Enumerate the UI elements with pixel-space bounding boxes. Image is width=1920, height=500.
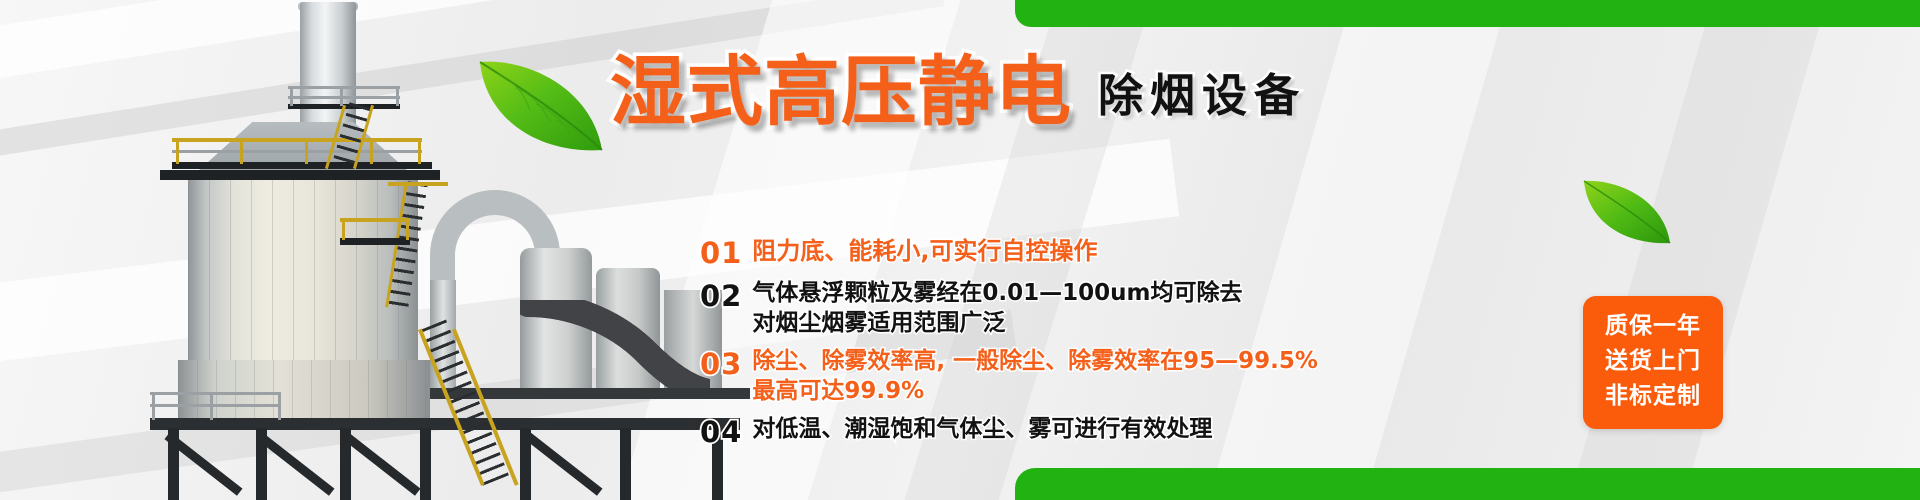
feature-item: 04 对低温、潮湿饱和气体尘、雾可进行有效处理: [700, 415, 1580, 449]
headline: 湿式高压静电 除烟设备: [610, 52, 1306, 132]
promo-badge[interactable]: 质保一年 送货上门 非标定制: [1583, 296, 1723, 429]
page-subtitle: 除烟设备: [1098, 59, 1306, 124]
feature-number: 01: [700, 236, 742, 270]
feature-item: 01 阻力底、能耗小,可实行自控操作: [700, 236, 1580, 270]
page-title: 湿式高压静电: [610, 52, 1072, 132]
feature-item: 03 除尘、除雾效率高, 一般除尘、除雾效率在95—99.5% 最高可达99.9…: [700, 347, 1580, 406]
feature-text: 对低温、潮湿饱和气体尘、雾可进行有效处理: [752, 415, 1212, 444]
feature-number: 04: [700, 415, 742, 449]
feature-text: 阻力底、能耗小,可实行自控操作: [752, 236, 1097, 267]
green-accent-bar-top: [1015, 0, 1920, 27]
feature-item: 02 气体悬浮颗粒及雾经在0.01—100um均可除去 对烟尘烟雾适用范围广泛: [700, 279, 1580, 338]
feature-number: 03: [700, 347, 742, 381]
promo-line-custom: 非标定制: [1583, 379, 1723, 414]
promo-line-delivery: 送货上门: [1583, 344, 1723, 379]
leaf-icon-right: [1578, 175, 1674, 247]
green-accent-bar-bottom: [1015, 468, 1920, 500]
feature-text: 气体悬浮颗粒及雾经在0.01—100um均可除去 对烟尘烟雾适用范围广泛: [752, 279, 1242, 338]
feature-text: 除尘、除雾效率高, 一般除尘、除雾效率在95—99.5% 最高可达99.9%: [752, 347, 1318, 406]
feature-number: 02: [700, 279, 742, 313]
feature-list: 01 阻力底、能耗小,可实行自控操作 02 气体悬浮颗粒及雾经在0.01—100…: [700, 236, 1580, 458]
promo-banner: 湿式高压静电 除烟设备 01 阻力底、能耗小,可实行自控操作 02 气体悬浮颗粒…: [0, 0, 1920, 500]
leaf-icon-left: [470, 50, 610, 160]
promo-line-warranty: 质保一年: [1583, 309, 1723, 344]
corrugated-hose-icon: [520, 300, 710, 396]
